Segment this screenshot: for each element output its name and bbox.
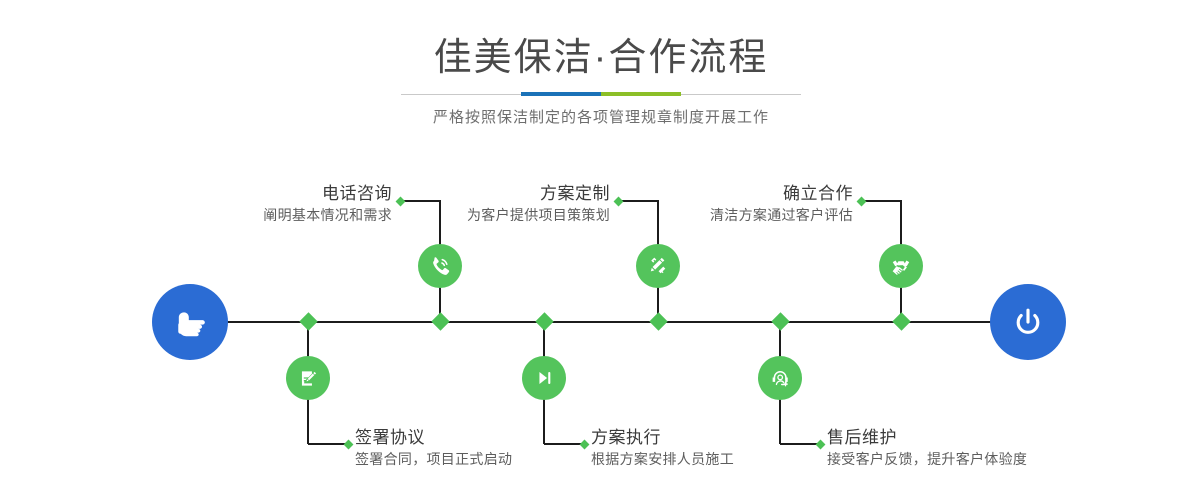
- step-label-step-sign-agreement: 签署协议 签署合同，项目正式启动: [355, 427, 615, 469]
- process-flow-infographic: 佳美保洁·合作流程 严格按照保洁制定的各项管理规章制度开展工作: [0, 0, 1202, 502]
- axis-marker-step-establish-cooperation: [892, 312, 910, 330]
- step-title: 方案执行: [591, 427, 851, 449]
- divider-blue-segment: [521, 92, 601, 96]
- play-execute-icon: [531, 365, 557, 391]
- handshake-icon: [888, 253, 914, 279]
- step-title: 售后维护: [827, 427, 1127, 449]
- step-desc: 阐明基本情况和需求: [160, 205, 392, 225]
- step-icon-step-phone-consult[interactable]: [418, 244, 462, 288]
- document-pen-icon: [296, 366, 321, 391]
- step-label-step-after-sales: 售后维护 接受客户反馈，提升客户体验度: [827, 427, 1127, 469]
- step-desc: 清洁方案通过客户评估: [620, 205, 853, 225]
- step-desc: 接受客户反馈，提升客户体验度: [827, 449, 1127, 469]
- step-icon-step-sign-agreement[interactable]: [286, 356, 330, 400]
- axis-marker-step-phone-consult: [431, 312, 449, 330]
- step-icon-step-establish-cooperation[interactable]: [879, 244, 923, 288]
- headset-support-icon: [768, 366, 793, 391]
- step-title: 签署协议: [355, 427, 615, 449]
- axis-marker-step-after-sales: [771, 312, 789, 330]
- step-title: 电话咨询: [160, 183, 392, 205]
- phone-call-icon: [427, 253, 453, 279]
- step-title: 方案定制: [390, 183, 610, 205]
- power-icon: [1007, 301, 1049, 343]
- axis-marker-step-plan-customize: [649, 312, 667, 330]
- connector-hline-step-sign-agreement: [308, 443, 348, 445]
- step-title: 确立合作: [620, 183, 853, 205]
- pencil-ruler-icon: [646, 254, 671, 279]
- step-icon-step-plan-customize[interactable]: [636, 244, 680, 288]
- step-label-step-establish-cooperation: 确立合作 清洁方案通过客户评估: [620, 183, 853, 225]
- axis-marker-step-plan-execute: [535, 312, 553, 330]
- step-desc: 为客户提供项目策策划: [390, 205, 610, 225]
- step-label-step-plan-customize: 方案定制 为客户提供项目策策划: [390, 183, 610, 225]
- axis-marker-step-sign-agreement: [299, 312, 317, 330]
- flow-end-badge: [990, 284, 1066, 360]
- connector-hline-step-establish-cooperation: [861, 200, 901, 202]
- title-divider: [401, 92, 801, 96]
- step-label-step-phone-consult: 电话咨询 阐明基本情况和需求: [160, 183, 392, 225]
- step-desc: 签署合同，项目正式启动: [355, 449, 615, 469]
- connector-tip-step-sign-agreement: [344, 440, 354, 450]
- step-icon-step-after-sales[interactable]: [758, 356, 802, 400]
- step-icon-step-plan-execute[interactable]: [522, 356, 566, 400]
- pointing-hand-icon: [168, 300, 212, 344]
- divider-green-segment: [601, 92, 681, 96]
- timeline-axis: [226, 321, 996, 323]
- page-title: 佳美保洁·合作流程: [0, 36, 1202, 80]
- connector-tip-step-establish-cooperation: [857, 197, 867, 207]
- step-label-step-plan-execute: 方案执行 根据方案安排人员施工: [591, 427, 851, 469]
- step-desc: 根据方案安排人员施工: [591, 449, 851, 469]
- page-subtitle: 严格按照保洁制定的各项管理规章制度开展工作: [0, 106, 1202, 130]
- flow-start-badge: [152, 284, 228, 360]
